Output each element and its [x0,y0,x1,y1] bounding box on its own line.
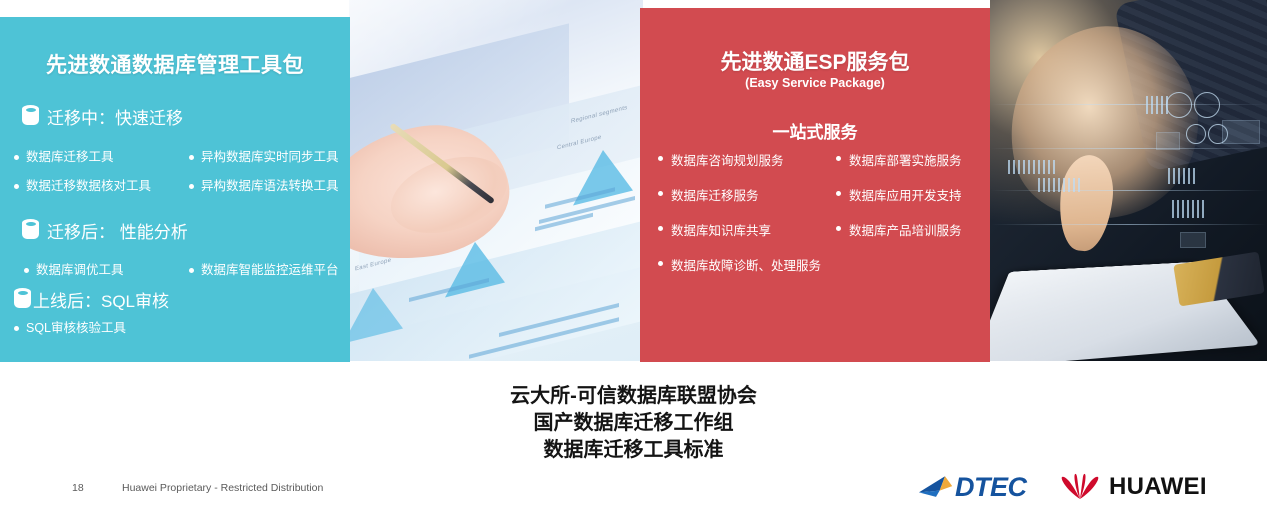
dtec-wordmark: DTEC [955,474,1027,501]
bullet-item: 数据库调优工具 [14,262,189,279]
bullet-label: 数据迁移数据核对工具 [26,178,151,195]
bullet-item: 数据库故障诊断、处理服务 [658,255,821,274]
bullet-item: 数据库咨询规划服务 [658,150,836,169]
caption-line-3: 数据库迁移工具标准 [0,437,1267,464]
bullet-label: 数据库应用开发支持 [849,185,962,204]
photo-hud-line [990,148,1267,149]
toolkit-panel-title: 先进数通数据库管理工具包 [0,49,350,79]
photo-hud-graph [1008,160,1058,174]
photo-credit-card [1173,252,1265,307]
esp-panel-title: 先进数通ESP服务包 [640,46,990,76]
esp-panel-tagline: 一站式服务 [640,118,990,143]
caption-line-2: 国产数据库迁移工作组 [0,410,1267,437]
bullet-item: 数据迁移数据核对工具 [14,178,189,195]
finger-tablet-analytics-photo [990,0,1267,361]
bullet-dot [24,268,29,273]
bullet-dot [189,155,194,160]
section-heading-label: 迁移后： 性能分析 [47,218,188,243]
bullet-item: 数据库应用开发支持 [836,185,962,204]
toolkit-bullets-performance: 数据库调优工具 数据库智能监控运维平台 [14,262,350,279]
esp-service-panel: 先进数通ESP服务包 (Easy Service Package) 一站式服务 … [640,8,990,362]
bullet-row: 数据迁移数据核对工具 异构数据库语法转换工具 [14,178,350,195]
photo-hud-line [990,104,1267,105]
dtec-mark-icon [918,474,954,500]
banner-strip: Regional segments Central Europe West Eu… [0,0,1267,362]
photo-hud-graph [1172,200,1206,218]
slide-root: Regional segments Central Europe West Eu… [0,0,1267,510]
caption-line-1: 云大所-可信数据库联盟协会 [0,383,1267,410]
bullet-dot [14,155,19,160]
bullet-dot [658,191,663,196]
bullet-row: 数据库咨询规划服务 数据库部署实施服务 [658,150,988,169]
bullet-dot [189,184,194,189]
bullet-row: 数据库调优工具 数据库智能监控运维平台 [14,262,350,279]
bullet-label: 异构数据库语法转换工具 [201,178,339,195]
photo-hud-circle [1166,92,1192,118]
bullet-dot [836,156,841,161]
bullet-label: 数据库故障诊断、处理服务 [671,255,821,274]
section-heading-sql-review: 上线后：SQL审核 [14,287,169,312]
bullet-label: 数据库知识库共享 [671,220,771,239]
photo-hud-graph [1168,168,1198,184]
bullet-dot [836,191,841,196]
bullet-label: SQL审核核验工具 [26,320,126,337]
bullet-item: 数据库知识库共享 [658,220,836,239]
section-heading-label: 迁移中：快速迁移 [47,104,183,129]
bullet-label: 数据库调优工具 [36,262,124,279]
bullet-item: 数据库智能监控运维平台 [189,262,339,279]
section-heading-migration: 迁移中：快速迁移 [22,104,183,129]
bullet-dot [658,156,663,161]
page-number: 18 [72,482,84,494]
database-icon [14,289,31,310]
bullet-label: 异构数据库实时同步工具 [201,149,339,166]
bullet-row: 数据库故障诊断、处理服务 [658,255,988,274]
slide-caption: 云大所-可信数据库联盟协会 国产数据库迁移工作组 数据库迁移工具标准 [0,383,1267,464]
bullet-item: 数据库部署实施服务 [836,150,962,169]
bullet-item: 数据库产品培训服务 [836,220,962,239]
bullet-row: 数据库迁移工具 异构数据库实时同步工具 [14,149,350,166]
bullet-label: 数据库智能监控运维平台 [201,262,339,279]
photo-hud-circle [1186,124,1206,144]
database-icon [22,220,39,241]
bullet-item: SQL审核核验工具 [14,320,126,337]
toolkit-bullets-migration: 数据库迁移工具 异构数据库实时同步工具 数据迁移数据核对工具 异构数据库语法转换… [14,149,350,195]
bullet-item: 异构数据库语法转换工具 [189,178,339,195]
esp-bullets: 数据库咨询规划服务 数据库部署实施服务 数据库迁移服务 数据库应用开发支持 [658,150,988,290]
esp-panel-subtitle: (Easy Service Package) [640,76,990,90]
confidentiality-notice: Huawei Proprietary - Restricted Distribu… [122,482,323,494]
bullet-dot [836,226,841,231]
bullet-label: 数据库部署实施服务 [849,150,962,169]
photo-hud-line [990,224,1267,225]
huawei-flower-icon [1060,473,1100,501]
toolkit-panel: 先进数通数据库管理工具包 迁移中：快速迁移 数据库迁移工具 异构数据库实时同步工… [0,17,350,362]
photo-hud-panel [1222,120,1260,144]
bullet-dot [14,184,19,189]
huawei-logo: HUAWEI [1060,470,1207,504]
bullet-row: 数据库知识库共享 数据库产品培训服务 [658,220,988,239]
bullet-label: 数据库咨询规划服务 [671,150,784,169]
photo-hud-graph [1146,96,1168,114]
bullet-item: 数据库迁移工具 [14,149,189,166]
bullet-label: 数据库迁移工具 [26,149,114,166]
photo-hud-circle [1194,92,1220,118]
bullet-dot [189,268,194,273]
bullet-label: 数据库产品培训服务 [849,220,962,239]
section-heading-label: 上线后：SQL审核 [33,287,169,312]
bullet-row: 数据库迁移服务 数据库应用开发支持 [658,185,988,204]
section-heading-performance: 迁移后： 性能分析 [22,218,188,243]
bullet-item: 异构数据库实时同步工具 [189,149,339,166]
toolkit-bullets-sql-review: SQL审核核验工具 [14,320,350,337]
hand-writing-charts-photo: Regional segments Central Europe West Eu… [349,0,643,361]
huawei-wordmark: HUAWEI [1109,475,1207,499]
bullet-item: 数据库迁移服务 [658,185,836,204]
bullet-label: 数据库迁移服务 [671,185,759,204]
bullet-dot [658,261,663,266]
photo-hud-panel [1180,232,1206,248]
bullet-dot [658,226,663,231]
bullet-row: SQL审核核验工具 [14,320,350,337]
photo-hud-line [990,190,1267,191]
bullet-dot [14,326,19,331]
dtec-logo: DTEC [918,470,1027,504]
database-icon [22,106,39,127]
